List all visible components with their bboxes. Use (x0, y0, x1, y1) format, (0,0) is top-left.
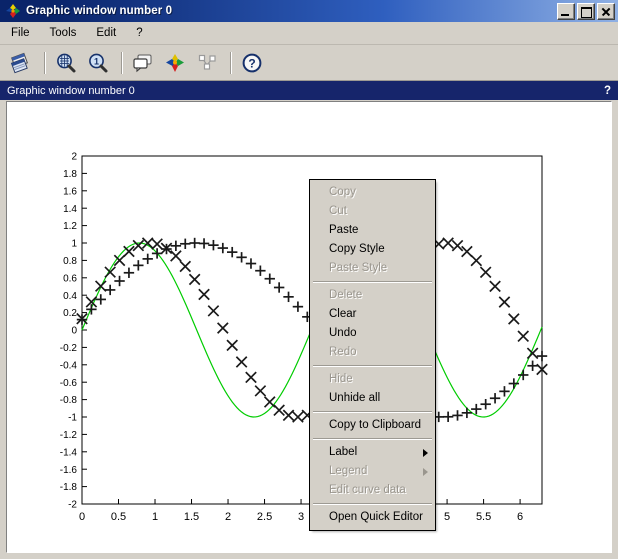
x-tick-label: 1 (152, 511, 158, 523)
toolbar-separator (121, 52, 122, 74)
menu-file[interactable]: File (2, 25, 39, 41)
y-tick-label: 1 (71, 239, 77, 250)
toolbar-separator (230, 52, 231, 74)
y-tick-label: -1.8 (60, 482, 78, 493)
y-tick-label: 1.2 (63, 221, 77, 232)
plot-figure: -2-1.8-1.6-1.4-1.2-1-0.8-0.6-0.4-0.200.2… (7, 102, 611, 552)
y-tick-label: -1.4 (60, 447, 78, 458)
x-tick-label: 2.5 (257, 511, 272, 523)
maximize-button[interactable] (577, 3, 595, 20)
menu-separator (313, 281, 432, 283)
title-bar: Graphic window number 0 (0, 0, 618, 22)
y-tick-label: -0.2 (60, 343, 78, 354)
new-figure-icon[interactable] (6, 48, 36, 78)
y-tick-label: 2 (71, 152, 77, 163)
ctx-redo: Redo (311, 343, 434, 362)
svg-text:1: 1 (94, 56, 99, 66)
ctx-edit-curve-data: Edit curve data (311, 481, 434, 500)
figure-info-title: Graphic window number 0 (7, 85, 135, 97)
toolbar-separator (44, 52, 45, 74)
graph-editor-icon[interactable] (192, 48, 222, 78)
ctx-copy-to-clipboard[interactable]: Copy to Clipboard (311, 416, 434, 435)
ctx-copy: Copy (311, 183, 434, 202)
y-tick-label: -0.6 (60, 378, 78, 389)
menu-separator (313, 365, 432, 367)
menu-separator (313, 411, 432, 413)
menu-separator (313, 438, 432, 440)
x-tick-label: 6 (517, 511, 523, 523)
y-tick-label: 1.6 (63, 186, 77, 197)
ctx-unhide-all[interactable]: Unhide all (311, 389, 434, 408)
y-tick-label: 1.8 (63, 169, 77, 180)
minimize-button[interactable] (557, 3, 575, 20)
y-tick-label: -0.4 (60, 360, 78, 371)
ctx-hide: Hide (311, 370, 434, 389)
x-tick-label: 2 (225, 511, 231, 523)
tool-bar: 1 (0, 45, 618, 81)
ctx-paste-style: Paste Style (311, 259, 434, 278)
plot-context-menu[interactable]: CopyCutPasteCopy StylePaste StyleDeleteC… (310, 180, 435, 530)
graphic-window: Graphic window number 0 File Tools Edit … (0, 0, 618, 559)
y-tick-label: 0.2 (63, 308, 77, 319)
y-tick-label: -1 (68, 413, 77, 424)
y-tick-label: 0.6 (63, 273, 77, 284)
y-tick-label: -2 (68, 500, 77, 511)
figure-info-bar: Graphic window number 0 ? (0, 81, 618, 100)
window-controls (557, 3, 615, 20)
x-tick-label: 3 (298, 511, 304, 523)
window-title: Graphic window number 0 (26, 5, 172, 17)
menu-tools[interactable]: Tools (41, 25, 86, 41)
ctx-delete: Delete (311, 286, 434, 305)
ctx-clear[interactable]: Clear (311, 305, 434, 324)
zoom-area-icon[interactable] (51, 48, 81, 78)
original-view-icon[interactable]: 1 (83, 48, 113, 78)
close-button[interactable] (597, 3, 615, 20)
ctx-copy-style[interactable]: Copy Style (311, 240, 434, 259)
ctx-open-quick-editor[interactable]: Open Quick Editor (311, 508, 434, 527)
y-tick-label: 0.8 (63, 256, 77, 267)
x-tick-label: 0 (79, 511, 85, 523)
scilab-logo-icon (5, 3, 21, 19)
y-tick-label: 0.4 (63, 291, 77, 302)
y-tick-label: 0 (71, 326, 77, 337)
figure-info-help-icon[interactable]: ? (604, 85, 611, 97)
ctx-cut: Cut (311, 202, 434, 221)
menu-bar: File Tools Edit ? (0, 22, 618, 45)
gui-builder-icon[interactable] (128, 48, 158, 78)
x-tick-label: 1.5 (184, 511, 199, 523)
y-tick-label: 1.4 (63, 204, 77, 215)
ctx-paste[interactable]: Paste (311, 221, 434, 240)
menu-separator (313, 503, 432, 505)
color-palette-icon[interactable] (160, 48, 190, 78)
ctx-legend: Legend (311, 462, 434, 481)
x-tick-label: 5 (444, 511, 450, 523)
menu-help[interactable]: ? (127, 25, 151, 41)
y-tick-label: -0.8 (60, 395, 78, 406)
x-tick-label: 5.5 (476, 511, 491, 523)
submenu-arrow-icon (423, 449, 428, 457)
ctx-label[interactable]: Label (311, 443, 434, 462)
plot-canvas[interactable]: -2-1.8-1.6-1.4-1.2-1-0.8-0.6-0.4-0.200.2… (6, 101, 612, 553)
y-tick-label: -1.2 (60, 430, 78, 441)
y-tick-label: -1.6 (60, 465, 78, 476)
svg-text:?: ? (248, 56, 255, 70)
help-icon[interactable]: ? (237, 48, 267, 78)
submenu-arrow-icon (423, 468, 428, 476)
menu-edit[interactable]: Edit (87, 25, 125, 41)
ctx-undo[interactable]: Undo (311, 324, 434, 343)
x-tick-label: 0.5 (111, 511, 126, 523)
